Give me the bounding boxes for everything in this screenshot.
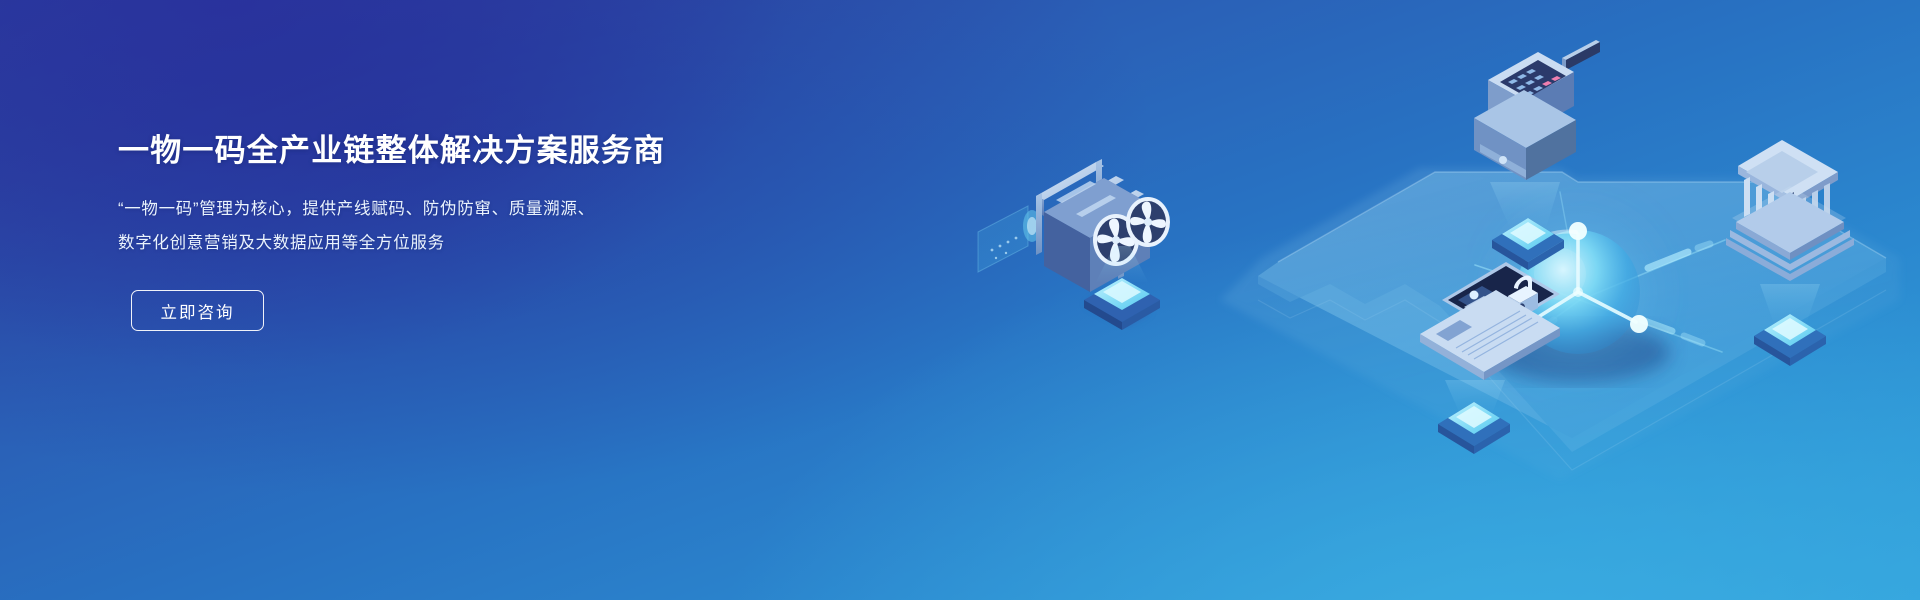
hero-illustration	[860, 0, 1920, 600]
subtitle-line-1: “一物一码”管理为核心，提供产线赋码、防伪防窜、质量溯源、	[118, 193, 738, 227]
subtitle-line-2: 数字化创意营销及大数据应用等全方位服务	[118, 227, 738, 261]
hero-subtitle: “一物一码”管理为核心，提供产线赋码、防伪防窜、质量溯源、 数字化创意营销及大数…	[118, 193, 738, 261]
consult-now-button[interactable]: 立即咨询	[131, 290, 264, 331]
hero-banner: 一物一码全产业链整体解决方案服务商 “一物一码”管理为核心，提供产线赋码、防伪防…	[0, 0, 1920, 600]
hero-copy: 一物一码全产业链整体解决方案服务商 “一物一码”管理为核心，提供产线赋码、防伪防…	[118, 132, 738, 331]
page-title: 一物一码全产业链整体解决方案服务商	[118, 132, 738, 171]
